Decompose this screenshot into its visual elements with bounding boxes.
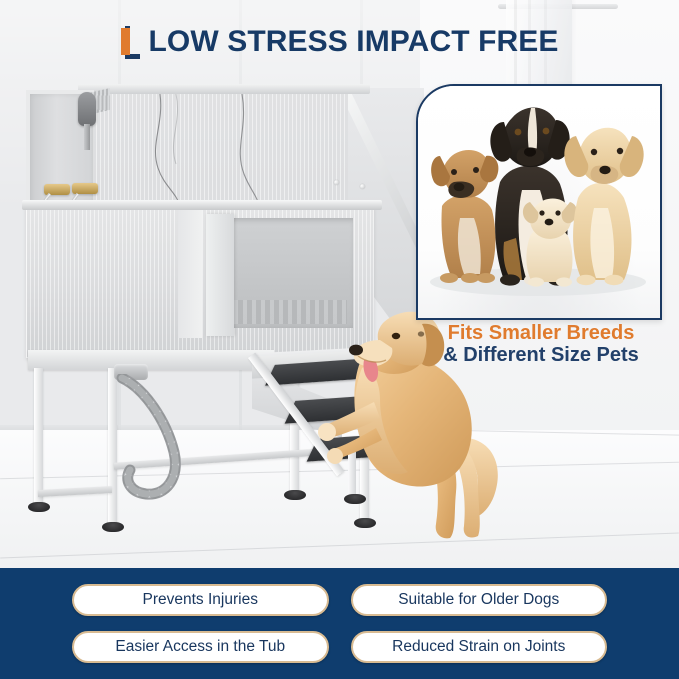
tub-base-apron	[28, 350, 274, 370]
hanging-cable-icon	[232, 94, 372, 214]
feature-pill-prevents-injuries[interactable]: Prevents Injuries	[72, 584, 329, 616]
product-marketing-image: LOW STRESS IMPACT FREE	[0, 0, 679, 679]
four-dogs-photo	[418, 86, 660, 318]
title-text: LOW STRESS IMPACT FREE	[149, 27, 559, 57]
tub-rim	[22, 200, 382, 210]
tub-crossbar	[38, 486, 112, 497]
feature-pill-suitable-for-older-dogs[interactable]: Suitable for Older Dogs	[351, 584, 608, 616]
inset-photo-panel	[416, 84, 662, 320]
page-title: LOW STRESS IMPACT FREE	[0, 16, 679, 68]
feature-pill-reduced-strain-on-joints[interactable]: Reduced Strain on Joints	[351, 631, 608, 663]
tub-sliding-door	[206, 214, 234, 336]
inset-caption: Fits Smaller Breeds & Different Size Pet…	[416, 322, 666, 367]
bracket-logo-icon	[121, 26, 140, 59]
tub-top-rail	[78, 84, 370, 94]
drain-hose-icon	[114, 374, 244, 510]
sprayer-stem-icon	[84, 124, 90, 150]
sprayer-head-icon	[78, 92, 96, 126]
feature-pill-easier-access-in-the-tub[interactable]: Easier Access in the Tub	[72, 631, 329, 663]
feature-pill-grid: Prevents Injuries Suitable for Older Dog…	[0, 568, 679, 679]
tub-leg	[34, 368, 43, 506]
inset-caption-line1: Fits Smaller Breeds	[416, 322, 666, 344]
inset-caption-line2: & Different Size Pets	[416, 344, 666, 367]
tub-door-panel	[178, 210, 202, 338]
feature-footer: Prevents Injuries Suitable for Older Dog…	[0, 568, 679, 679]
adjustable-foot-icon	[102, 522, 124, 532]
adjustable-foot-icon	[28, 502, 50, 512]
